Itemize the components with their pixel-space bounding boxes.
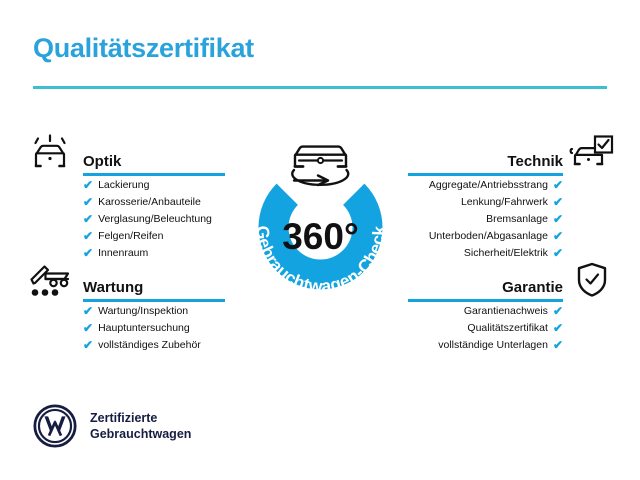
service-tools-car-icon	[27, 260, 73, 300]
section-title-optik: Optik	[83, 153, 121, 170]
car-checkbox-icon	[569, 134, 615, 174]
list-item-label: Aggregate/Antriebsstrang	[429, 179, 548, 191]
list-item: ✔ Lackierung	[25, 176, 225, 193]
list-item-label: Lackierung	[98, 179, 149, 191]
list-item: ✔ Wartung/Inspektion	[25, 302, 225, 319]
checklist-garantie: ✔ Garantienachweis ✔ Qualitätszertifikat…	[408, 302, 615, 353]
list-item: ✔ Unterboden/Abgasanlage	[408, 227, 615, 244]
section-underline-wartung	[83, 299, 225, 302]
check-icon: ✔	[553, 213, 563, 225]
section-header-optik: Optik	[25, 130, 225, 176]
check-icon: ✔	[553, 196, 563, 208]
checklist-wartung: ✔ Wartung/Inspektion ✔ Hauptuntersuchung…	[25, 302, 225, 353]
list-item-label: Verglasung/Beleuchtung	[98, 213, 212, 225]
checklist-technik: ✔ Aggregate/Antriebsstrang ✔ Lenkung/Fah…	[408, 176, 615, 261]
check-icon: ✔	[553, 339, 563, 351]
check-icon: ✔	[553, 230, 563, 242]
check-icon: ✔	[553, 305, 563, 317]
list-item-label: Lenkung/Fahrwerk	[461, 196, 548, 208]
list-item-label: Unterboden/Abgasanlage	[429, 230, 548, 242]
list-item-label: vollständige Unterlagen	[438, 339, 548, 351]
list-item: ✔ Qualitätszertifikat	[408, 319, 615, 336]
volkswagen-logo	[33, 404, 77, 448]
list-item: ✔ Garantienachweis	[408, 302, 615, 319]
list-item-label: vollständiges Zubehör	[98, 339, 201, 351]
footer-brand-text: Zertifizierte Gebrauchtwagen	[90, 410, 191, 443]
list-item: ✔ Hauptuntersuchung	[25, 319, 225, 336]
section-title-technik: Technik	[507, 153, 563, 170]
section-header-garantie: Garantie	[408, 256, 615, 302]
check-icon: ✔	[83, 230, 93, 242]
section-wartung: Wartung ✔ Wartung/Inspektion ✔ Hauptunte…	[25, 256, 225, 353]
section-underline-optik	[83, 173, 225, 176]
list-item: ✔ Felgen/Reifen	[25, 227, 225, 244]
footer-brand: Zertifizierte Gebrauchtwagen	[33, 404, 191, 448]
check-icon: ✔	[83, 339, 93, 351]
list-item: ✔ Verglasung/Beleuchtung	[25, 210, 225, 227]
section-title-wartung: Wartung	[83, 279, 143, 296]
list-item-label: Karosserie/Anbauteile	[98, 196, 201, 208]
section-header-wartung: Wartung	[25, 256, 225, 302]
car-rotation-icon	[292, 147, 348, 185]
list-item: ✔ vollständiges Zubehör	[25, 336, 225, 353]
section-underline-technik	[408, 173, 563, 176]
check-icon: ✔	[553, 179, 563, 191]
section-title-garantie: Garantie	[502, 279, 563, 296]
list-item: ✔ vollständige Unterlagen	[408, 336, 615, 353]
section-garantie: Garantie ✔ Garantienachweis ✔ Qualitätsz…	[408, 256, 615, 353]
list-item: ✔ Aggregate/Antriebsstrang	[408, 176, 615, 193]
list-item-label: Qualitätszertifikat	[467, 322, 548, 334]
check-icon: ✔	[83, 305, 93, 317]
list-item: ✔ Bremsanlage	[408, 210, 615, 227]
check-icon: ✔	[83, 196, 93, 208]
section-optik: Optik ✔ Lackierung ✔ Karosserie/Anbautei…	[25, 130, 225, 261]
list-item-label: Bremsanlage	[486, 213, 548, 225]
section-header-technik: Technik	[408, 130, 615, 176]
section-underline-garantie	[408, 299, 563, 302]
check-icon: ✔	[553, 322, 563, 334]
list-item-label: Garantienachweis	[464, 305, 548, 317]
list-item-label: Wartung/Inspektion	[98, 305, 188, 317]
check-icon: ✔	[83, 213, 93, 225]
page-title: Qualitätszertifikat	[33, 33, 254, 64]
list-item: ✔ Lenkung/Fahrwerk	[408, 193, 615, 210]
check-icon: ✔	[83, 179, 93, 191]
car-shine-icon	[27, 134, 73, 174]
list-item-label: Felgen/Reifen	[98, 230, 163, 242]
list-item: ✔ Karosserie/Anbauteile	[25, 193, 225, 210]
check-icon: ✔	[83, 322, 93, 334]
title-divider	[33, 86, 607, 89]
shield-check-icon	[569, 260, 615, 300]
badge-center-value: 360°	[282, 216, 359, 257]
checklist-optik: ✔ Lackierung ✔ Karosserie/Anbauteile ✔ V…	[25, 176, 225, 261]
badge-360-gebrauchtwagen-check: Gebrauchtwagen-Check 360°	[233, 118, 408, 308]
section-technik: Technik ✔ Aggregate/Antriebsstrang ✔ Len…	[408, 130, 615, 261]
list-item-label: Hauptuntersuchung	[98, 322, 190, 334]
